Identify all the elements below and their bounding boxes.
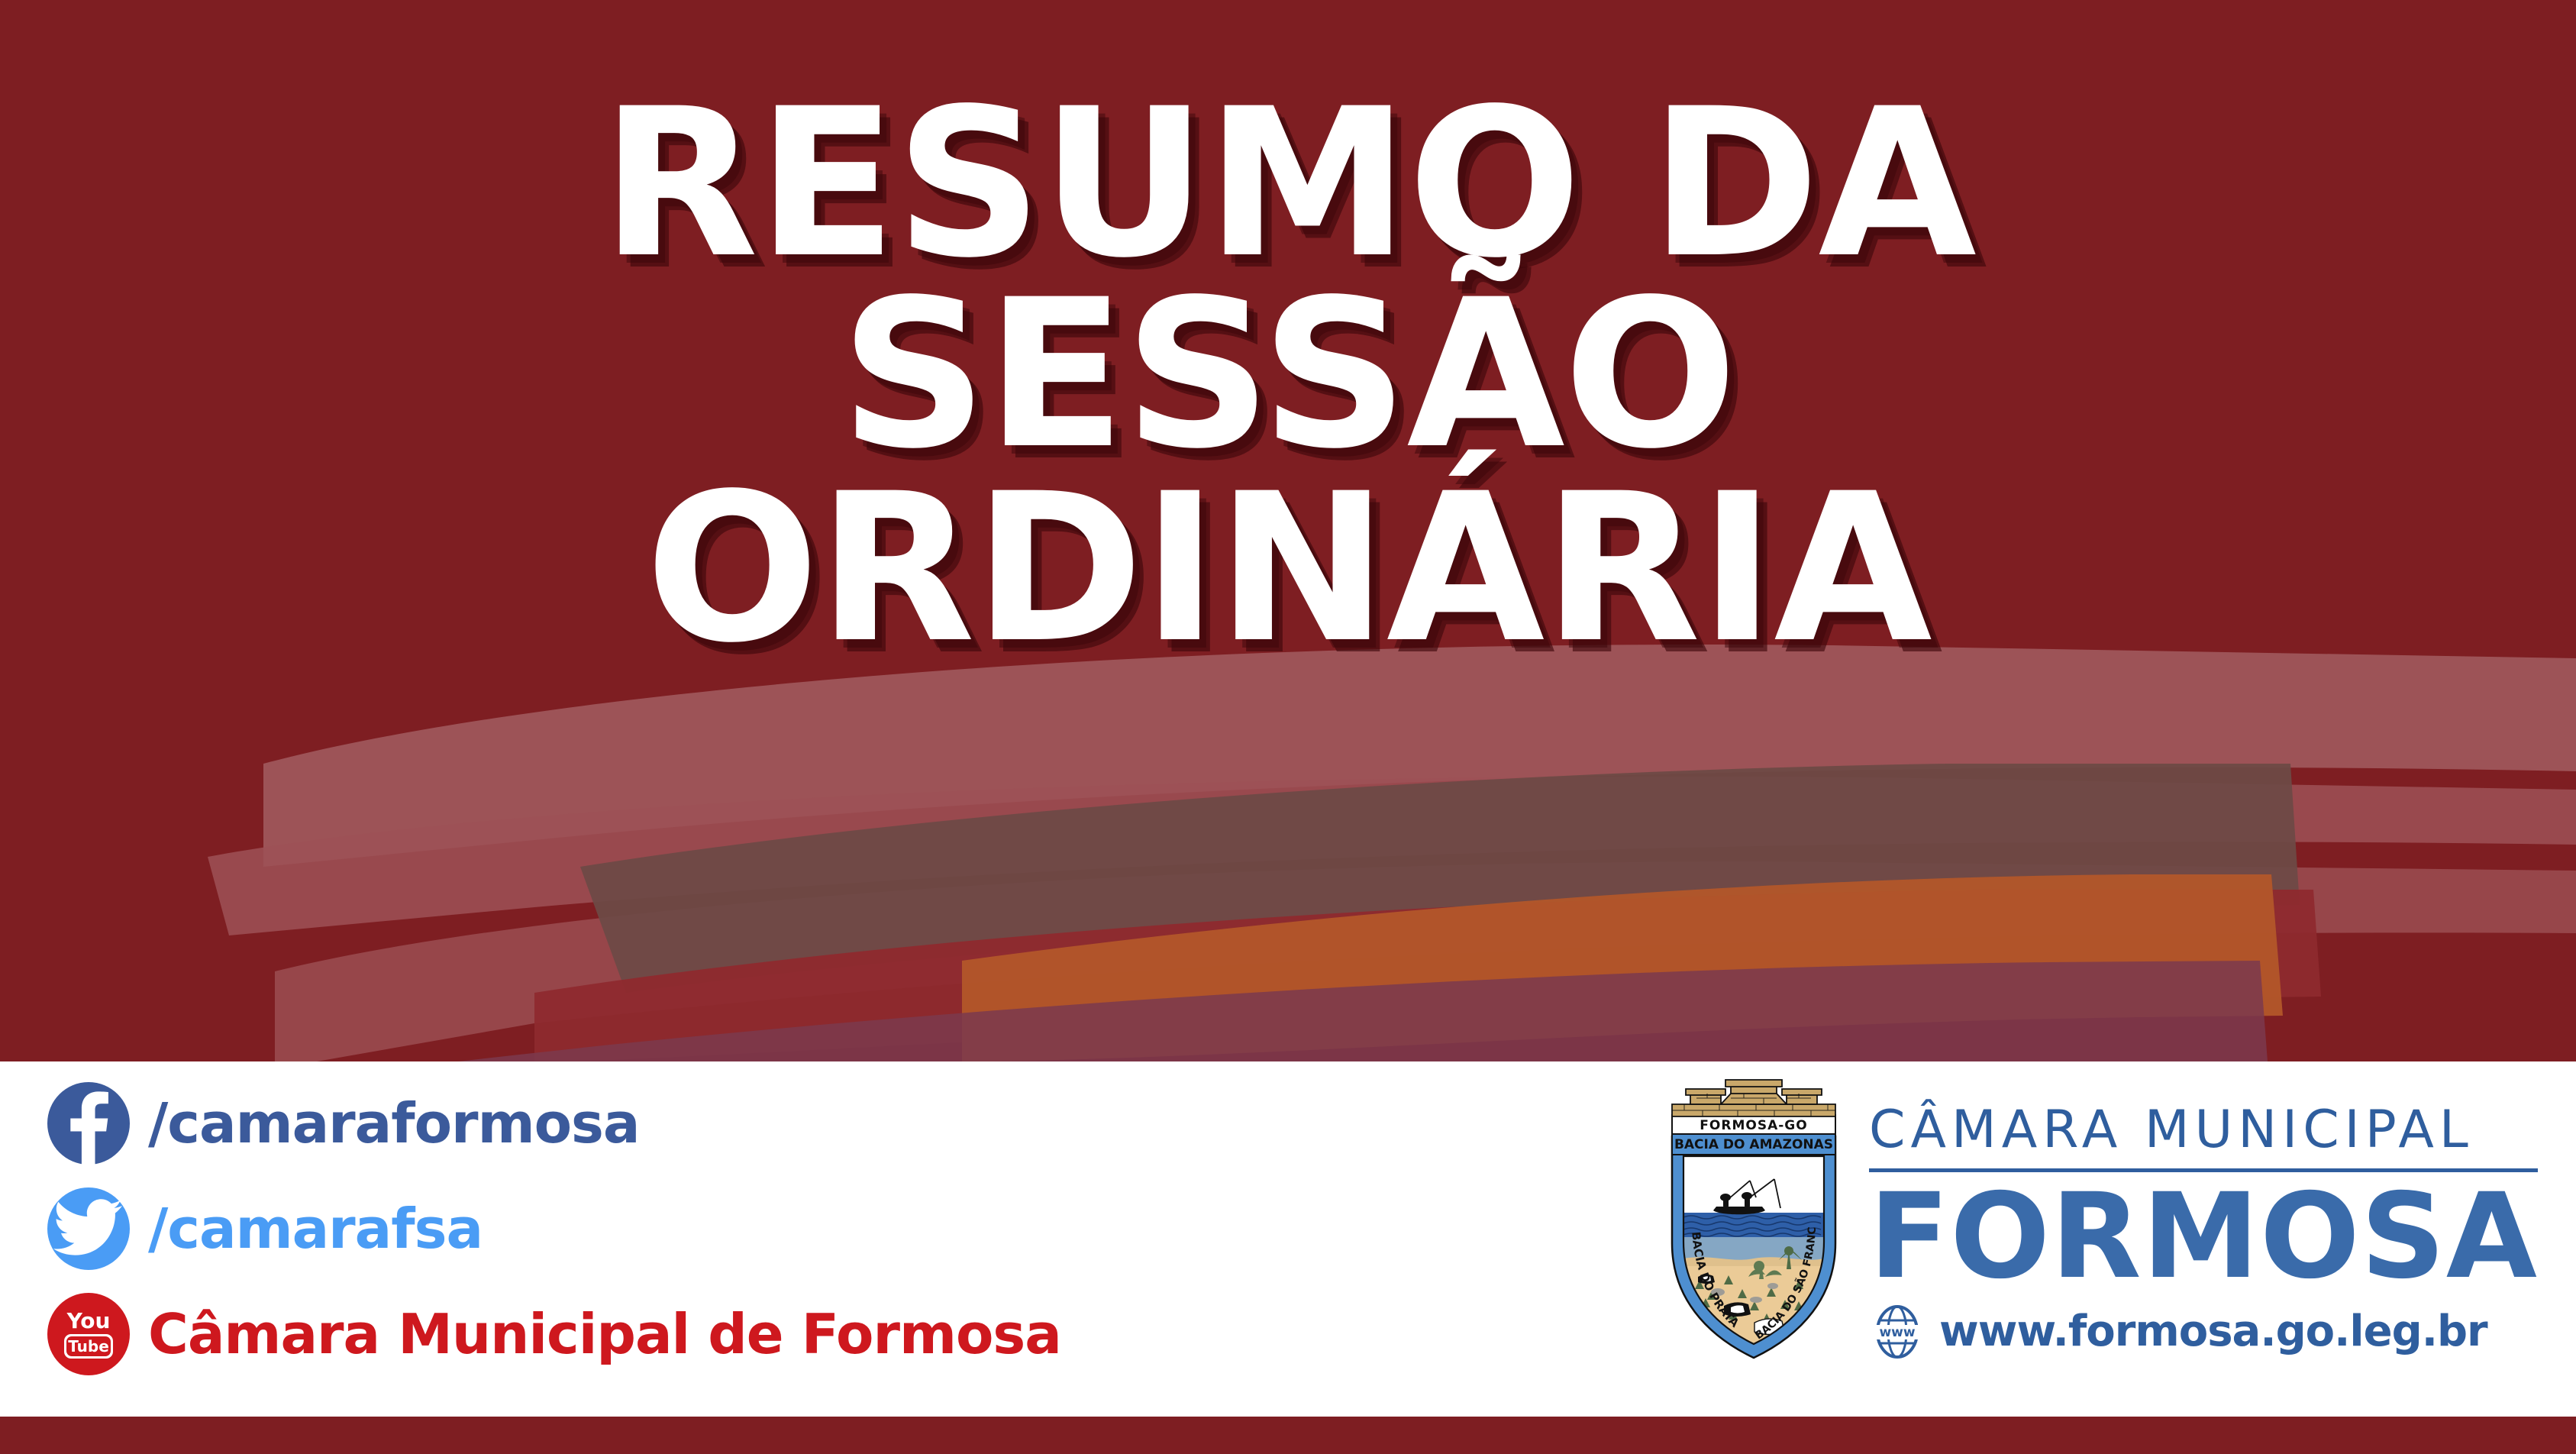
hero-section: RESUMO DA SESSÃO ORDINÁRIA <box>0 0 2576 1061</box>
logo-url-row[interactable]: www www.formosa.go.leg.br <box>1869 1304 2538 1360</box>
youtube-handle: Câmara Municipal de Formosa <box>148 1307 1061 1362</box>
social-links-list: /camaraformosa /camarafsa You <box>47 1078 1061 1379</box>
svg-text:You: You <box>66 1308 111 1333</box>
poster-root: RESUMO DA SESSÃO ORDINÁRIA /camaraformos… <box>0 0 2576 1454</box>
twitter-icon <box>47 1187 130 1270</box>
svg-text:www: www <box>1879 1325 1915 1340</box>
footer-section: /camaraformosa /camarafsa You <box>0 1061 2576 1417</box>
facebook-icon <box>47 1082 130 1165</box>
social-row-facebook[interactable]: /camaraformosa <box>47 1078 1061 1168</box>
formosa-coat-of-arms-icon: BACIA DO AMAZONAS FORMOSA-GO <box>1658 1077 1849 1361</box>
crest-top-label: FORMOSA-GO <box>1700 1118 1807 1133</box>
bottom-accent-bar <box>0 1417 2576 1454</box>
camara-wordmark: CÂMARA MUNICIPAL FORMOSA www www.formosa… <box>1869 1077 2538 1360</box>
facebook-handle: /camaraformosa <box>148 1096 640 1151</box>
svg-text:Tube: Tube <box>68 1337 109 1355</box>
camara-logo-block[interactable]: BACIA DO AMAZONAS FORMOSA-GO <box>1658 1077 2538 1361</box>
title-line-2: SESSÃO <box>840 275 1735 477</box>
title-line-3: ORDINÁRIA <box>645 469 1931 670</box>
www-globe-icon: www <box>1869 1304 1926 1360</box>
youtube-icon: You Tube <box>47 1293 130 1375</box>
social-row-twitter[interactable]: /camarafsa <box>47 1184 1061 1274</box>
twitter-handle: /camarafsa <box>148 1201 483 1256</box>
logo-line-camara-municipal: CÂMARA MUNICIPAL <box>1869 1104 2538 1156</box>
social-row-youtube[interactable]: You Tube Câmara Municipal de Formosa <box>47 1289 1061 1379</box>
poster-title: RESUMO DA SESSÃO ORDINÁRIA <box>0 0 2576 1061</box>
logo-website-url: www.formosa.go.leg.br <box>1939 1310 2487 1353</box>
crest-band-label: BACIA DO AMAZONAS <box>1674 1137 1833 1152</box>
logo-line-formosa: FORMOSA <box>1869 1178 2538 1296</box>
